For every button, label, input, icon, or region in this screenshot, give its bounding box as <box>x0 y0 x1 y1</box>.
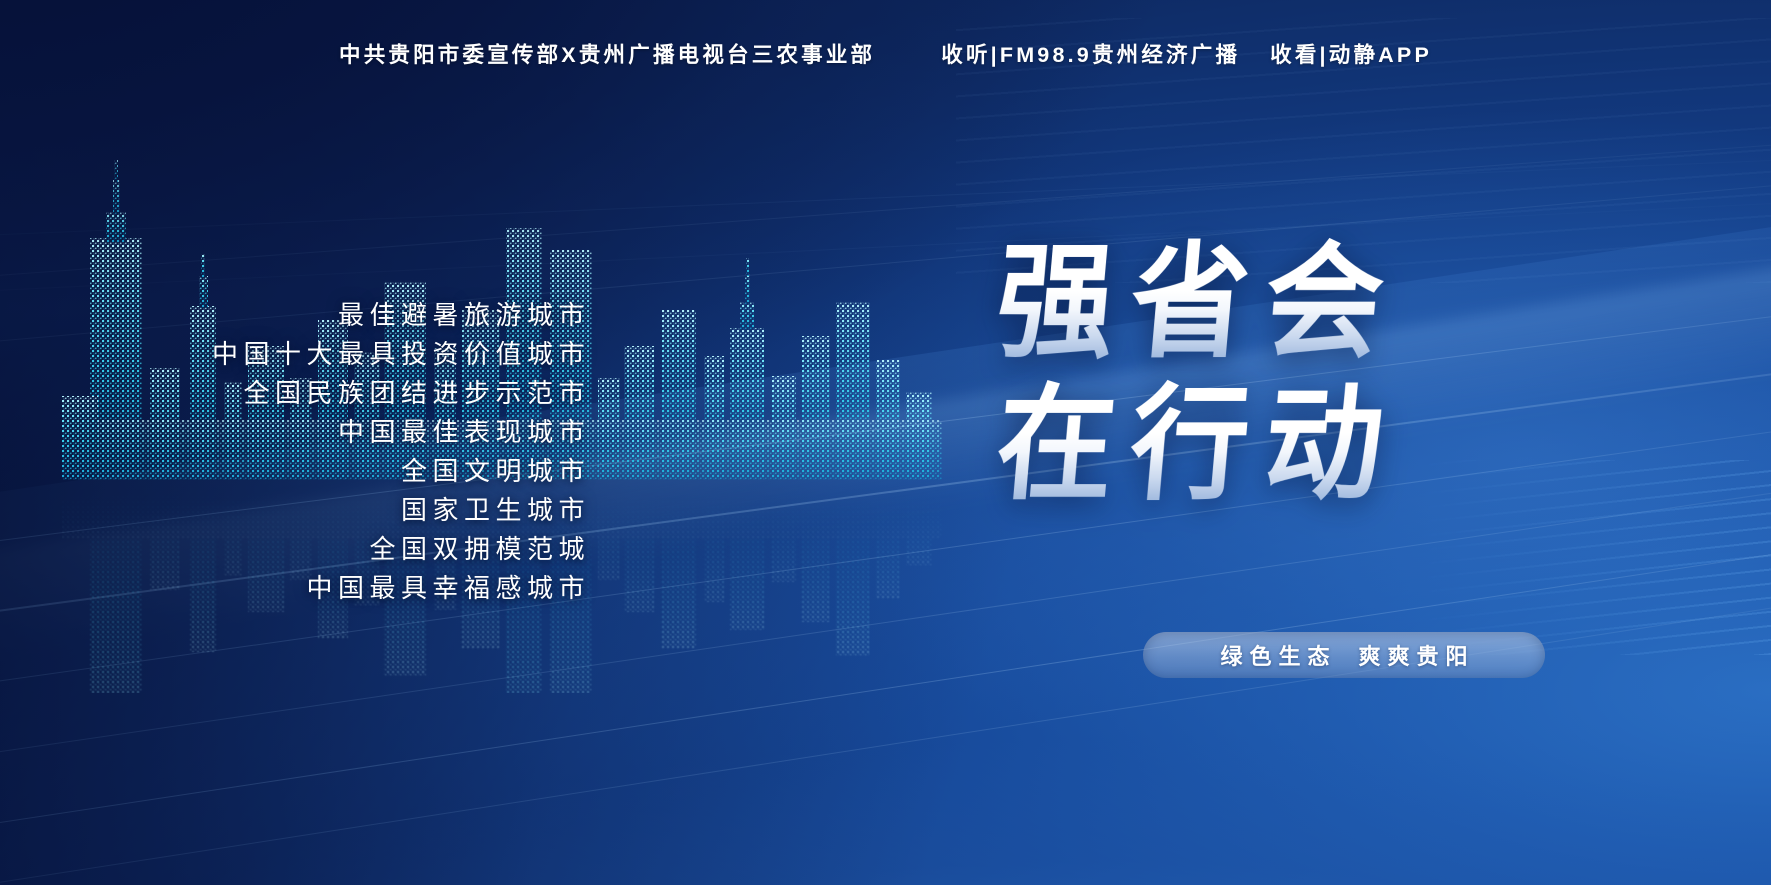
honor-item: 国家卫生城市 <box>0 491 592 530</box>
poster-canvas: 中共贵阳市委宣传部X贵州广播电视台三农事业部 收听|FM98.9贵州经济广播 收… <box>0 0 1771 885</box>
city-honors-list: 最佳避暑旅游城市 中国十大最具投资价值城市 全国民族团结进步示范市 中国最佳表现… <box>0 296 592 608</box>
honor-item: 中国最具幸福感城市 <box>0 569 592 608</box>
honor-item: 中国最佳表现城市 <box>0 413 592 452</box>
header-organization-label: 中共贵阳市委宣传部X贵州广播电视台三农事业部 <box>339 38 875 69</box>
slogan-badge-text: 绿色生态爽爽贵阳 <box>1213 639 1474 671</box>
main-title-line-2: 在行动 <box>949 374 1431 514</box>
slogan-badge: 绿色生态爽爽贵阳 <box>1143 632 1545 678</box>
slogan-left: 绿色生态 <box>1220 644 1336 669</box>
header-channels: 收听|FM98.9贵州经济广播 收看|动静APP <box>941 38 1432 69</box>
header-bar: 中共贵阳市委宣传部X贵州广播电视台三农事业部 收听|FM98.9贵州经济广播 收… <box>0 38 1771 69</box>
header-watch-label: 收看|动静APP <box>1270 38 1432 69</box>
header-listen-label: 收听|FM98.9贵州经济广播 <box>941 38 1240 69</box>
main-title-line-1: 强省会 <box>949 232 1431 372</box>
honor-item: 全国民族团结进步示范市 <box>0 374 592 413</box>
slogan-right: 爽爽贵阳 <box>1359 644 1475 669</box>
honor-item: 中国十大最具投资价值城市 <box>0 335 592 374</box>
honor-item: 最佳避暑旅游城市 <box>0 296 592 335</box>
honor-item: 全国文明城市 <box>0 452 592 491</box>
main-title: 强省会 在行动 <box>955 236 1425 510</box>
honor-item: 全国双拥模范城 <box>0 530 592 569</box>
background-right-light-bars <box>1417 460 1771 655</box>
